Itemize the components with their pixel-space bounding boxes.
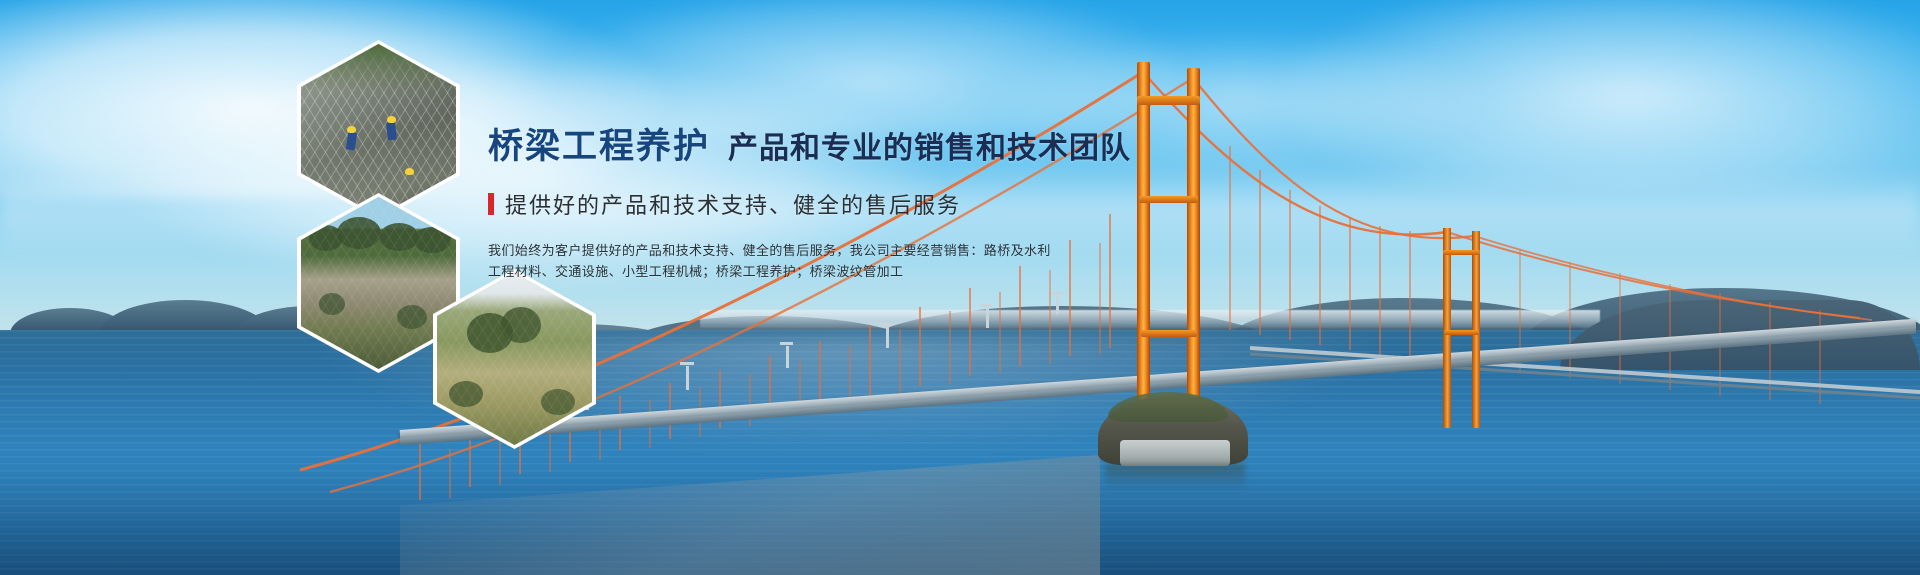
tower-crossbeam [1137, 96, 1200, 105]
bridge-tower-far-leg-left [1443, 228, 1451, 428]
headline-secondary: 产品和专业的销售和技术团队 [728, 123, 1131, 167]
tagline-row: 提供好的产品和技术支持、健全的售后服务 [488, 188, 1388, 220]
accent-bar [488, 193, 494, 215]
worker-helmet [347, 126, 356, 133]
vegetation-top [301, 44, 456, 92]
tower-crossbeam-far [1443, 250, 1480, 255]
pier-reflection [1105, 464, 1245, 490]
worker-helmet [387, 116, 396, 123]
banner-copy: 桥梁工程养护 产品和专业的销售和技术团队 提供好的产品和技术支持、健全的售后服务… [488, 118, 1388, 282]
hero-banner: 桥梁工程养护 产品和专业的销售和技术团队 提供好的产品和技术支持、健全的售后服务… [0, 0, 1920, 575]
body-copy: 我们始终为客户提供好的产品和技术支持、健全的售后服务，我公司主要经营销售：路桥及… [488, 240, 1388, 282]
hex-photo-slope-greening[interactable] [437, 273, 592, 445]
pier-base [1120, 440, 1230, 466]
tower-crossbeam [1141, 330, 1197, 337]
page-title: 桥梁工程养护 [488, 118, 710, 169]
body-line-2: 工程材料、交通设施、小型工程机械；桥梁工程养护；桥梁波纹管加工 [488, 261, 1388, 282]
worker-helmet [405, 168, 414, 175]
tower-crossbeam-far [1444, 330, 1479, 335]
body-line-1: 我们始终为客户提供好的产品和技术支持、健全的售后服务，我公司主要经营销售：路桥及… [488, 240, 1388, 261]
hex-photo-gallery [0, 0, 620, 575]
headline-row: 桥梁工程养护 产品和专业的销售和技术团队 [488, 118, 1388, 169]
worker-figure [386, 122, 397, 141]
tagline: 提供好的产品和技术支持、健全的售后服务 [505, 188, 961, 220]
hex-photo-hillside-vegetation[interactable] [301, 197, 456, 369]
hex-photo-slope-mesh-workers[interactable] [301, 44, 456, 216]
